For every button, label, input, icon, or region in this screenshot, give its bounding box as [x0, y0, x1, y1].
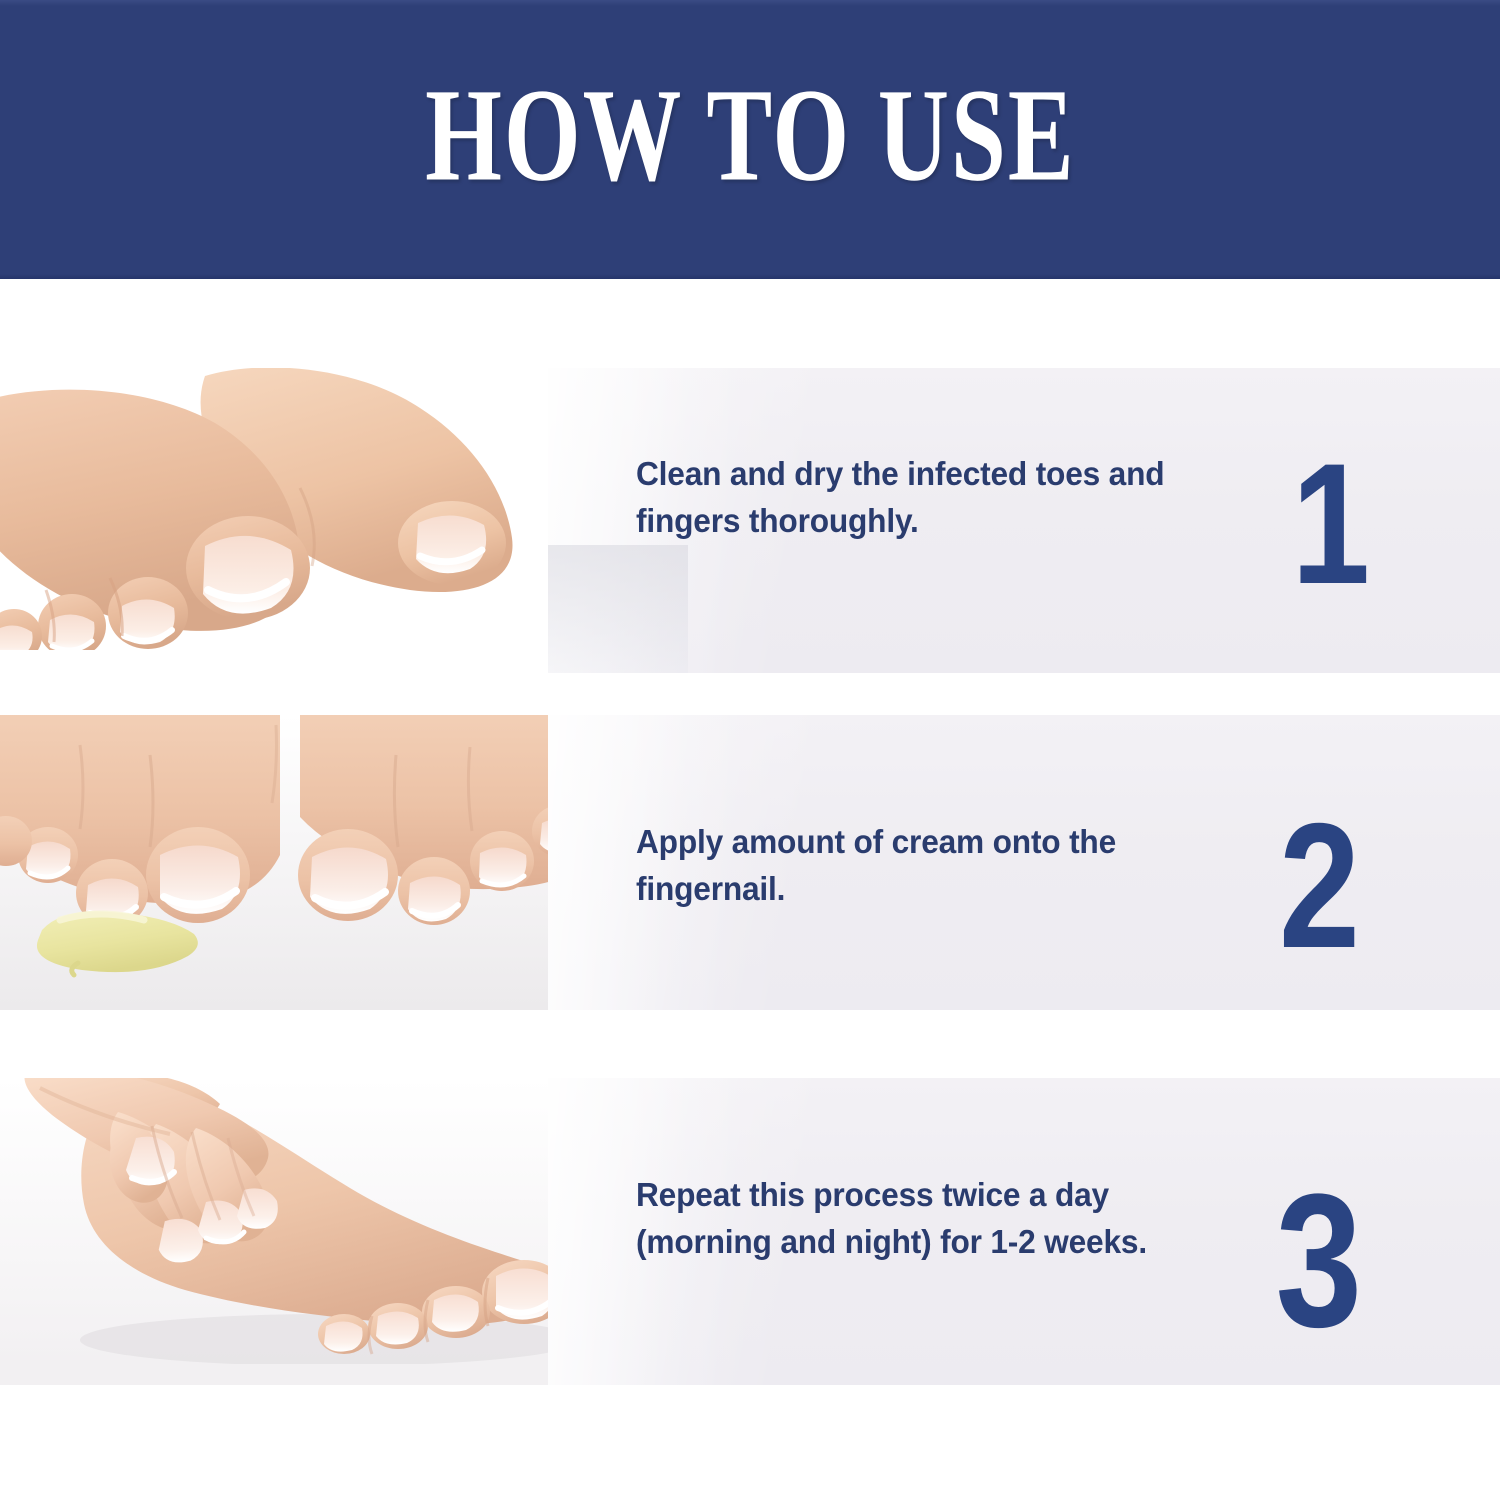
step-row-3: Repeat this process twice a day (morning…: [0, 1078, 1500, 1385]
step-1-panel: Clean and dry the infected toes and fing…: [548, 368, 1500, 673]
page-header: HOW TO USE: [0, 0, 1500, 279]
step-2-text: Apply amount of cream onto the fingernai…: [636, 819, 1174, 913]
hand-on-foot-illustration: [0, 1078, 620, 1385]
step-3-photo: [0, 1078, 620, 1385]
toes-with-cream-illustration: [0, 715, 600, 1010]
step-2-panel: Apply amount of cream onto the fingernai…: [548, 715, 1500, 1010]
step-1-number: 1: [1292, 438, 1370, 610]
step-3-text: Repeat this process twice a day (morning…: [636, 1172, 1250, 1266]
step-3-panel: Repeat this process twice a day (morning…: [548, 1078, 1500, 1385]
step-row-2: Apply amount of cream onto the fingernai…: [0, 715, 1500, 1010]
page-title: HOW TO USE: [425, 69, 1075, 202]
step-3-number: 3: [1276, 1166, 1363, 1356]
step-2-number: 2: [1279, 797, 1360, 975]
step-1-photo: [0, 368, 560, 673]
step-row-1: Clean and dry the infected toes and fing…: [0, 368, 1500, 673]
feet-toes-illustration: [0, 368, 560, 673]
step-2-photo: [0, 715, 600, 1010]
step-1-text: Clean and dry the infected toes and fing…: [636, 451, 1174, 545]
